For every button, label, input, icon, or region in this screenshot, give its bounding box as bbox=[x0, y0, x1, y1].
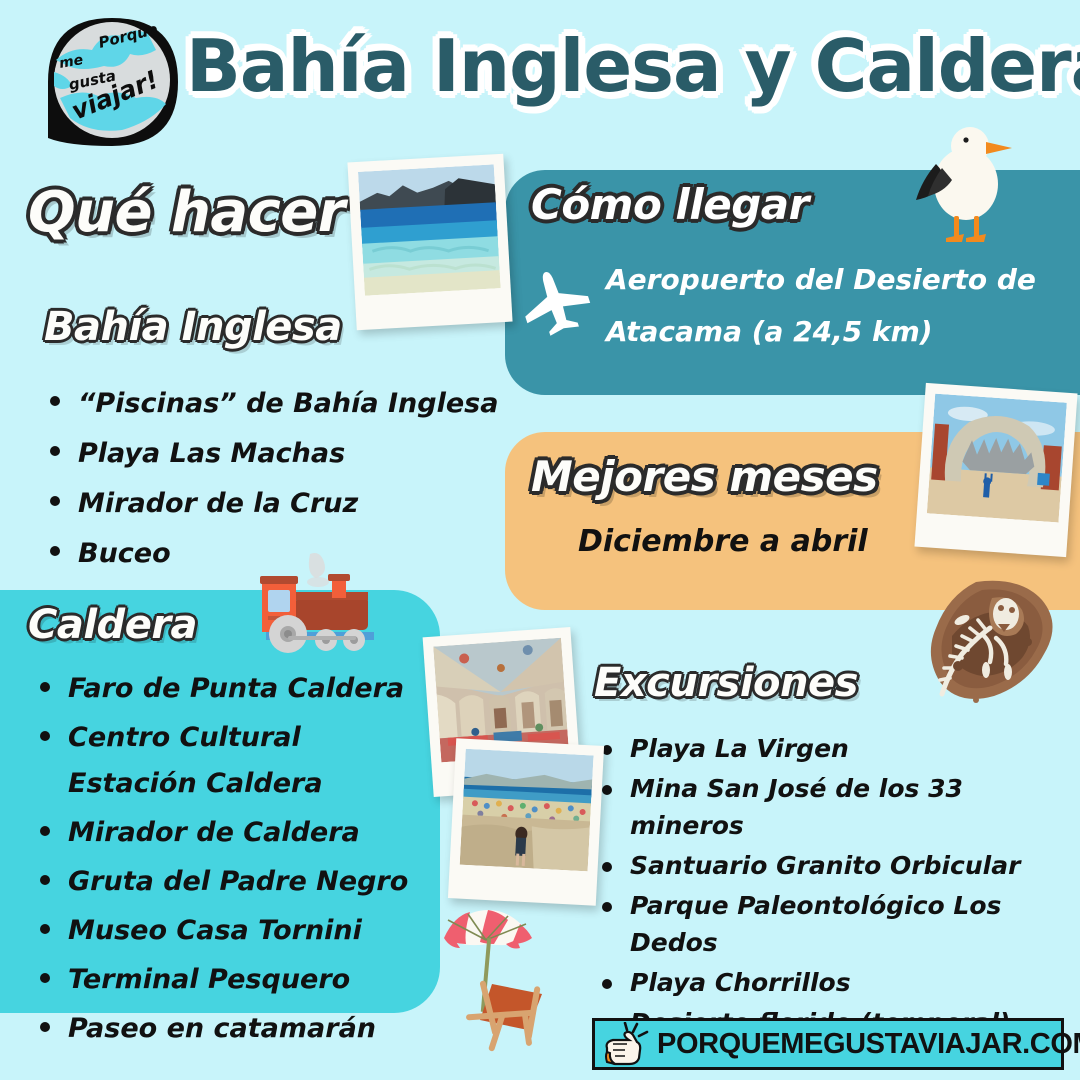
list-item: Santuario Granito Orbicular bbox=[596, 847, 1066, 884]
caldera-heading: Caldera bbox=[28, 602, 197, 648]
bahia-inglesa-heading: Bahía Inglesa bbox=[44, 304, 342, 350]
photo-image bbox=[927, 394, 1067, 523]
list-item: “Piscinas” de Bahía Inglesa bbox=[44, 380, 514, 427]
list-item: Mina San José de los 33 mineros bbox=[596, 770, 1066, 844]
excursiones-list: Playa La Virgen Mina San José de los 33 … bbox=[596, 730, 1066, 1044]
excursiones-heading: Excursiones bbox=[594, 660, 858, 706]
mejores-meses-heading: Mejores meses bbox=[531, 452, 878, 501]
como-llegar-text: Aeropuerto del Desierto de Atacama (a 24… bbox=[606, 254, 1046, 358]
list-item: Mirador de Caldera bbox=[34, 810, 434, 856]
steam-train-illustration bbox=[248, 548, 388, 656]
list-item: Playa La Virgen bbox=[596, 730, 1066, 767]
list-item: Playa Las Machas bbox=[44, 430, 514, 477]
page-title: Bahía Inglesa y Caldera bbox=[186, 24, 1080, 108]
photo-image bbox=[358, 164, 501, 295]
photo-shark-jaw-arch bbox=[914, 383, 1077, 557]
photo-beach-crowd bbox=[448, 738, 604, 906]
photo-image bbox=[460, 749, 594, 872]
list-item: Centro Cultural Estación Caldera bbox=[34, 715, 434, 807]
airplane-icon bbox=[518, 266, 596, 336]
website-url: PORQUEMEGUSTAVIAJAR.COM bbox=[657, 1028, 1080, 1061]
caldera-list: Faro de Punta Caldera Centro Cultural Es… bbox=[34, 666, 434, 1055]
website-footer-bar[interactable]: PORQUEMEGUSTAVIAJAR.COM bbox=[592, 1018, 1064, 1070]
list-item: Mirador de la Cruz bbox=[44, 480, 514, 527]
photo-bahia-inglesa-beach bbox=[347, 154, 512, 330]
list-item: Parque Paleontológico Los Dedos bbox=[596, 887, 1066, 961]
list-item: Faro de Punta Caldera bbox=[34, 666, 434, 712]
seagull-illustration bbox=[908, 112, 1018, 242]
mejores-meses-text: Diciembre a abril bbox=[578, 524, 868, 559]
pointing-hand-icon bbox=[603, 1022, 653, 1066]
list-item: Gruta del Padre Negro bbox=[34, 859, 434, 905]
porque-me-gusta-viajar-logo: Porque me gusta viajar! bbox=[38, 10, 184, 152]
list-item: Terminal Pesquero bbox=[34, 957, 434, 1003]
dinosaur-fossil-illustration bbox=[928, 576, 1068, 708]
como-llegar-heading: Cómo llegar bbox=[531, 180, 809, 229]
infographic-canvas: Porque me gusta viajar! Bahía Inglesa y … bbox=[0, 0, 1080, 1080]
que-hacer-heading: Qué hacer bbox=[28, 180, 345, 245]
list-item: Playa Chorrillos bbox=[596, 964, 1066, 1001]
beach-umbrella-chair-illustration bbox=[408, 900, 568, 1060]
list-item: Paseo en catamarán bbox=[34, 1006, 434, 1052]
list-item: Museo Casa Tornini bbox=[34, 908, 434, 954]
